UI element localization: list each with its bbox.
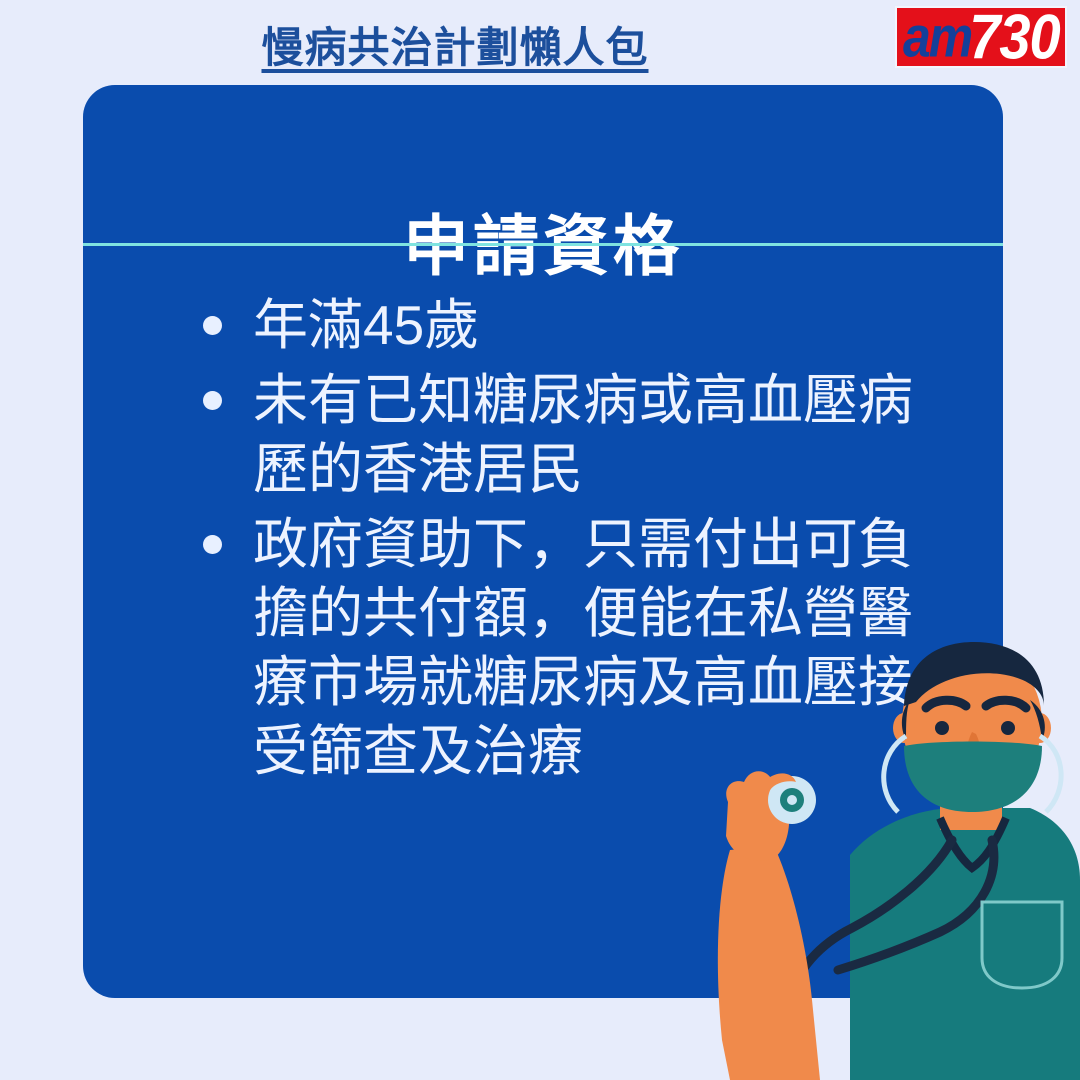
list-item-text: 政府資助下，只需付出可負擔的共付額，便能在私營醫療市場就糖尿病及高血壓接受篩查及… (253, 513, 913, 782)
heading-divider (83, 243, 1003, 246)
right-ear (1029, 713, 1051, 743)
list-item: 政府資助下，只需付出可負擔的共付額，便能在私營醫療市場就糖尿病及高血壓接受篩查及… (191, 510, 951, 786)
infographic-canvas: 慢病共治計劃懶人包 am 730 申請資格 年滿45歲 未有已知糖尿病或高血壓病… (0, 0, 1080, 1080)
list-item-text: 未有已知糖尿病或高血壓病歷的香港居民 (253, 369, 913, 500)
right-eye (1001, 721, 1015, 735)
mask-strap-right (1040, 736, 1061, 812)
list-item: 未有已知糖尿病或高血壓病歷的香港居民 (191, 366, 951, 504)
hair-sideburn (1030, 700, 1045, 740)
card-heading: 申請資格 (83, 193, 1003, 289)
logo-730-text: 730 (969, 6, 1059, 68)
bullet-dot-icon (203, 391, 222, 410)
content-card: 申請資格 年滿45歲 未有已知糖尿病或高血壓病歷的香港居民 政府資助下，只需付出… (83, 85, 1003, 998)
am730-logo: am 730 (895, 6, 1067, 68)
list-item: 年滿45歲 (191, 291, 951, 360)
logo-am-text: am (903, 8, 971, 66)
header: 慢病共治計劃懶人包 am 730 (0, 0, 1080, 85)
bullet-dot-icon (203, 316, 222, 335)
list-item-text: 年滿45歲 (253, 294, 479, 356)
eligibility-bullet-list: 年滿45歲 未有已知糖尿病或高血壓病歷的香港居民 政府資助下，只需付出可負擔的共… (191, 291, 951, 792)
bullet-dot-icon (203, 535, 222, 554)
